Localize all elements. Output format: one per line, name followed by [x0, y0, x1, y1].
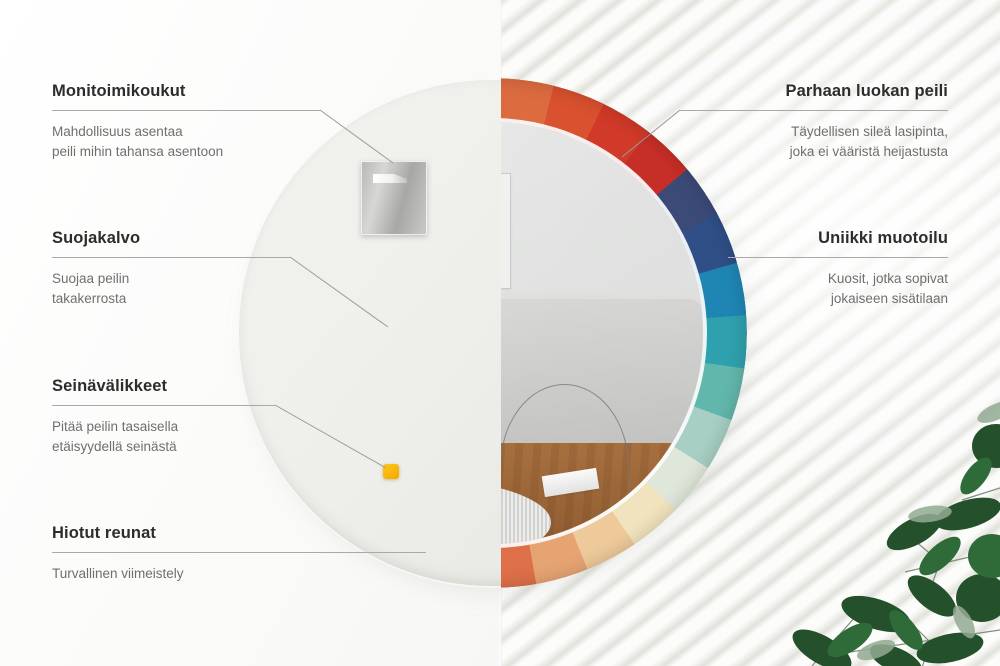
decorative-foliage: [700, 300, 1000, 666]
callout-rule: [680, 110, 948, 111]
callout-description: Täydellisen sileä lasipinta, joka ei vää…: [680, 122, 948, 162]
callout-best-in-class-mirror: Parhaan luokan peili Täydellisen sileä l…: [680, 82, 948, 162]
callout-title: Hiotut reunat: [52, 524, 426, 543]
callout-title: Monitoimikoukut: [52, 82, 320, 101]
callout-mounting-hooks: Monitoimikoukut Mahdollisuus asentaa pei…: [52, 82, 320, 162]
leaves-icon: [700, 300, 1000, 666]
callout-title: Suojakalvo: [52, 229, 290, 248]
leader-line-wall-spacers: [275, 405, 386, 468]
callout-description: Mahdollisuus asentaa peili mihin tahansa…: [52, 122, 320, 162]
leader-line-mounting-hooks: [320, 110, 393, 163]
callout-polished-edges: Hiotut reunat Turvallinen viimeistely: [52, 524, 426, 584]
callout-title: Uniikki muotoilu: [728, 229, 948, 248]
callout-rule: [52, 552, 426, 553]
callout-unique-design: Uniikki muotoilu Kuosit, jotka sopivat j…: [728, 229, 948, 309]
callout-title: Seinävälikkeet: [52, 377, 275, 396]
callout-rule: [52, 257, 290, 258]
callout-protective-film: Suojakalvo Suojaa peilin takakerrosta: [52, 229, 290, 309]
leader-line-protective-film: [290, 257, 388, 327]
callout-description: Turvallinen viimeistely: [52, 564, 426, 584]
callout-title: Parhaan luokan peili: [680, 82, 948, 101]
callout-description: Pitää peilin tasaisella etäisyydellä sei…: [52, 417, 275, 457]
callout-description: Suojaa peilin takakerrosta: [52, 269, 290, 309]
callout-wall-spacers: Seinävälikkeet Pitää peilin tasaisella e…: [52, 377, 275, 457]
leader-line-best-mirror: [622, 110, 680, 157]
callout-rule: [52, 405, 275, 406]
product-infographic: Monitoimikoukut Mahdollisuus asentaa pei…: [0, 0, 1000, 666]
callout-rule: [728, 257, 948, 258]
callout-rule: [52, 110, 320, 111]
